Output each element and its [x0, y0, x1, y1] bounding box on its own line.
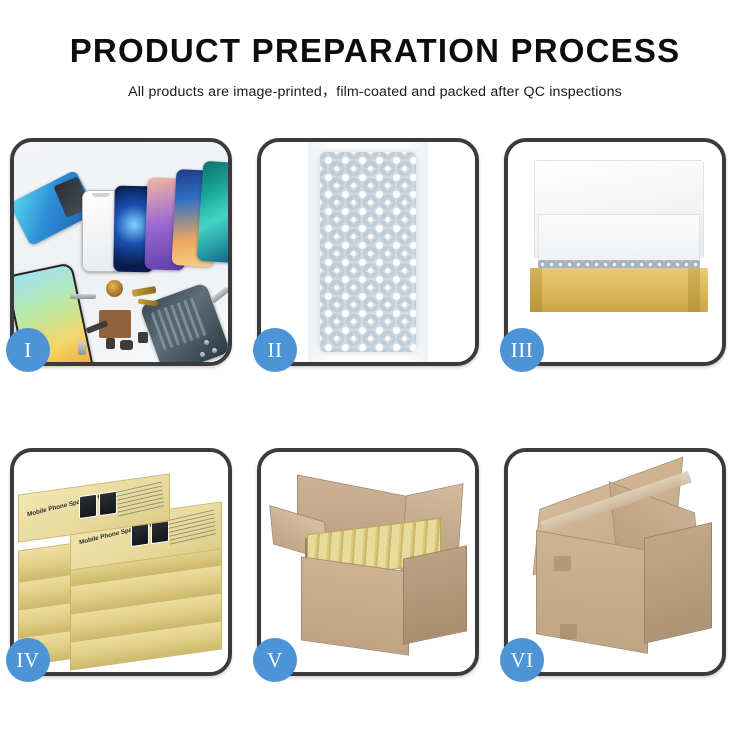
carton-front-face: [301, 556, 409, 655]
process-step-panel-5[interactable]: V: [257, 448, 479, 676]
box-phone-graphic-3: [79, 494, 97, 520]
bubble-wrap-sheet: [320, 152, 416, 352]
step-2-image: [261, 142, 475, 362]
step-badge-5: V: [253, 638, 297, 682]
copper-coil-part: [106, 280, 123, 297]
process-step-panel-2[interactable]: II: [257, 138, 479, 366]
sim-tray-part: [78, 342, 86, 355]
small-part-2: [106, 338, 115, 349]
step-badge-4: IV: [6, 638, 50, 682]
screw-part-1: [204, 340, 209, 345]
carton-hand-hole-bottom: [560, 624, 577, 639]
process-step-panel-6[interactable]: VI: [504, 448, 726, 676]
carton-side-face: [403, 545, 467, 645]
process-step-grid: I II III: [10, 138, 740, 676]
kraft-box-left-lip: [530, 268, 542, 312]
sealed-carton-side-face: [644, 522, 712, 644]
step-badge-1: I: [6, 328, 50, 372]
screw-part-2: [212, 348, 217, 353]
metal-bracket-part: [70, 294, 96, 299]
step-4-image: Mobile Phone Spare Parts Mobile Phone Sp…: [14, 452, 228, 672]
step-badge-2: II: [253, 328, 297, 372]
kraft-inner-box: [530, 268, 708, 312]
step-badge-3: III: [500, 328, 544, 372]
process-step-panel-3[interactable]: III: [504, 138, 726, 366]
carton-hand-hole-top: [554, 556, 571, 571]
step-5-image: [261, 452, 475, 672]
page-title: PRODUCT PREPARATION PROCESS: [0, 34, 750, 67]
process-step-panel-4[interactable]: Mobile Phone Spare Parts Mobile Phone Sp…: [10, 448, 232, 676]
box-spec-lines-front: [168, 510, 216, 546]
tweezers-tool: [210, 286, 228, 303]
box-spec-lines-back: [116, 482, 164, 518]
kraft-box-stack: Mobile Phone Spare Parts Mobile Phone Sp…: [18, 478, 228, 664]
box-phone-graphic-4: [99, 491, 117, 517]
page-subtitle: All products are image-printed，film-coat…: [0, 81, 750, 101]
sealed-carton-front-face: [536, 530, 648, 654]
flex-cable-part-1: [132, 286, 157, 297]
screw-part-3: [200, 352, 205, 357]
step-6-image: [508, 452, 722, 672]
step-1-image: [14, 142, 228, 362]
kraft-box-right-lip: [688, 268, 700, 312]
speaker-part: [120, 340, 133, 350]
small-part-3: [138, 332, 148, 343]
page-header: PRODUCT PREPARATION PROCESS All products…: [0, 0, 750, 101]
step-badge-6: VI: [500, 638, 544, 682]
process-step-panel-1[interactable]: I: [10, 138, 232, 366]
step-3-image: [508, 142, 722, 362]
